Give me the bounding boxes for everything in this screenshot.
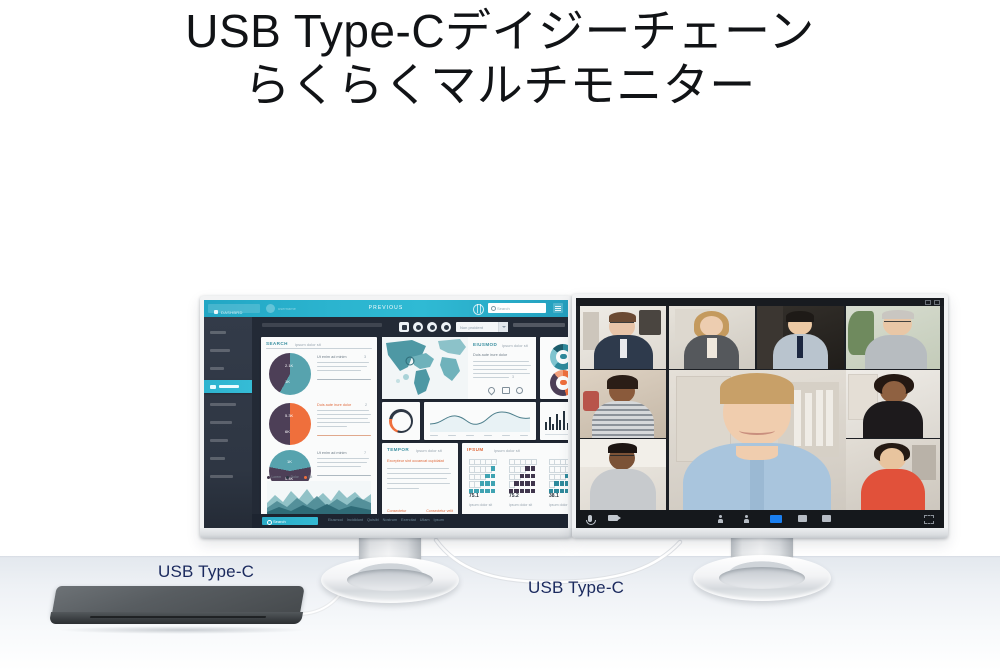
sidebar-item-ipsum[interactable] <box>210 347 246 354</box>
laptop-shadow <box>58 626 306 634</box>
area-chart <box>267 481 371 514</box>
participant-tile-main-speaker[interactable] <box>669 370 846 510</box>
search-input[interactable]: Search <box>488 303 546 313</box>
poster-stage: USB Type-Cデイジーチェーン らくらくマルチモニター <box>0 0 1000 671</box>
stat-1-sub: ipsum dolor sit <box>469 503 492 507</box>
card-search-title: SEARCH <box>266 341 288 346</box>
bar-chart <box>545 408 568 430</box>
filter-select-value: Non proident <box>460 325 483 330</box>
card-tempor-link-left[interactable]: Consectetur <box>387 509 406 513</box>
fullscreen-icon[interactable] <box>924 515 934 524</box>
chevron-down-icon <box>498 322 508 332</box>
participant-tile-1[interactable] <box>580 306 666 369</box>
card-map-lead: Duis aute irure dolor <box>473 353 507 357</box>
stat-1-value: 75.1 <box>469 493 479 499</box>
pin-icon[interactable] <box>487 386 497 396</box>
bar-chart-axis <box>545 434 568 435</box>
search-placeholder: Search <box>497 306 510 311</box>
video-toolbar <box>576 510 944 528</box>
hamburger-menu-icon[interactable] <box>553 303 563 313</box>
waffle-chart-3 <box>549 459 568 493</box>
clock-icon[interactable] <box>516 387 523 394</box>
pie-2-label-a: 5.3K <box>285 413 293 418</box>
camera-icon[interactable] <box>608 515 618 521</box>
laptop-closed[interactable] <box>48 586 308 632</box>
monitor-left-screen: DASHBRD username PREVIOUS Search <box>204 300 568 528</box>
filter-select[interactable]: Non proident <box>456 322 508 332</box>
search-item-3-heading: Ut enim ad minim <box>317 451 347 455</box>
info-icon[interactable] <box>413 322 423 332</box>
card-map: EIUSMOD ipsum dolor sit Duis aute irure … <box>382 337 536 399</box>
donut-chart-orange <box>550 370 568 396</box>
search-item-1-count: 3 <box>364 355 366 359</box>
card-ipsum-title: IPSUM <box>467 447 484 452</box>
card-bar-chart <box>540 402 568 440</box>
footer-link-2[interactable]: Quisibi <box>367 518 379 522</box>
folder-icon <box>210 385 216 389</box>
footer-links: Eiusmod Incididunt Quisibi Nostrum Exerc… <box>328 518 444 522</box>
monitor-right[interactable] <box>572 294 948 538</box>
sidebar-item-incididunt[interactable] <box>210 473 246 480</box>
headline-line-2: らくらくマルチモニター <box>0 58 1000 112</box>
search-icon <box>267 520 272 525</box>
sidebar-item-tempor[interactable] <box>210 455 246 462</box>
stand-base-ring <box>693 555 831 601</box>
map-info-panel: EIUSMOD ipsum dolor sit Duis aute irure … <box>468 337 536 399</box>
card-ipsum: IPSUM ipsum dolor sit 75.1 ipsum dolor s… <box>462 443 568 519</box>
settings-icon[interactable] <box>441 322 451 332</box>
sidebar-item-sit-amet[interactable] <box>204 380 252 393</box>
share-screen-icon[interactable] <box>770 515 782 523</box>
card-tempor-title: TEMPOR <box>387 447 409 452</box>
search-item-2-heading: Duis aute irure dolor <box>317 403 351 407</box>
globe-icon[interactable] <box>473 304 484 315</box>
monitor-right-screen <box>576 298 944 528</box>
laptop-base <box>49 612 303 624</box>
pie-1-label-a: 2.1K <box>285 363 293 368</box>
card-map-subtitle: ipsum dolor sit <box>502 343 528 348</box>
stat-3-sub: ipsum dolor sit <box>549 503 568 507</box>
card-map-count: 3 <box>512 375 514 379</box>
chat-icon[interactable] <box>798 515 807 522</box>
search-item-3-count: 7 <box>364 451 366 455</box>
card-ring-chart <box>382 402 420 440</box>
video-window-titlebar <box>576 298 944 306</box>
footer-link-0[interactable]: Eiusmod <box>328 518 343 522</box>
ring-chart <box>389 409 413 433</box>
search-button-label: Search <box>273 519 286 524</box>
card-search: SEARCH ipsum dolor sit 2.1K 1K Ut enim a… <box>261 337 377 519</box>
sidebar-item-eiusmod[interactable] <box>210 437 246 444</box>
calendar-icon[interactable] <box>502 387 510 394</box>
people-icon[interactable] <box>744 515 749 523</box>
card-tempor-subtitle: ipsum dolor sit <box>416 448 442 453</box>
header-note <box>513 323 565 327</box>
card-tempor-lead: Excepteur sint occaecat cupidatat <box>387 459 444 463</box>
sidebar-item-consectetur[interactable] <box>210 401 246 408</box>
sidebar-item-adipiscing[interactable] <box>210 419 246 426</box>
mic-icon[interactable] <box>588 515 592 522</box>
participant-grid <box>580 306 940 510</box>
footer-link-5[interactable]: Ullam <box>420 518 430 522</box>
participant-tile-2[interactable] <box>669 306 755 369</box>
search-icon <box>491 306 496 311</box>
donut-chart-teal <box>550 344 568 370</box>
card-line-chart <box>424 402 536 440</box>
dashboard-app: DASHBRD username PREVIOUS Search <box>204 300 568 528</box>
pie-chart-1 <box>269 353 311 395</box>
calendar-icon[interactable] <box>399 322 409 332</box>
laptop-seam <box>90 616 266 618</box>
pie-3-label-a: 1K <box>287 459 292 464</box>
card-search-subtitle: ipsum dolor sit <box>295 342 321 347</box>
card-map-title: EIUSMOD <box>473 342 497 347</box>
layout-icon[interactable] <box>822 515 831 522</box>
participant-tile-9[interactable] <box>846 439 940 510</box>
participant-tile-8[interactable] <box>580 439 666 510</box>
sidebar-item-dolor[interactable] <box>210 365 246 372</box>
monitor-left[interactable]: DASHBRD username PREVIOUS Search <box>200 296 572 538</box>
participant-tile-3[interactable] <box>757 306 843 369</box>
stat-3-value: 38.1 <box>549 493 559 499</box>
legend-1: Dolor <box>291 475 299 479</box>
window-controls[interactable] <box>925 300 940 305</box>
stat-2-sub: ipsum dolor sit <box>509 503 532 507</box>
breadcrumb <box>262 323 382 327</box>
card-tempor: TEMPOR ipsum dolor sit Excepteur sint oc… <box>382 443 458 519</box>
pie-legend: Lorem Dolor Sit <box>267 475 312 479</box>
footer-link-4[interactable]: Exercitat <box>401 518 416 522</box>
legend-0: Lorem <box>272 475 282 479</box>
desk-edge <box>0 556 1000 558</box>
legend-2: Sit <box>308 475 312 479</box>
usb-label-left: USB Type-C <box>158 562 254 582</box>
pie-chart-2 <box>269 403 311 445</box>
footer-link-3[interactable]: Nostrum <box>383 518 397 522</box>
dashboard-sidebar <box>204 317 252 528</box>
headline-line-1: USB Type-Cデイジーチェーン <box>0 4 1000 58</box>
participant-tile-7[interactable] <box>846 370 940 437</box>
card-donuts <box>540 337 568 399</box>
search-item-2-count: 2 <box>365 403 367 407</box>
usb-label-right: USB Type-C <box>528 578 624 598</box>
mail-icon[interactable] <box>427 322 437 332</box>
pie-1-label-b: 1K <box>285 379 290 384</box>
sidebar-item-lorem[interactable] <box>210 329 246 336</box>
dashboard-topbar: DASHBRD username PREVIOUS Search <box>204 300 568 317</box>
waffle-chart-1 <box>469 459 495 493</box>
card-tempor-link-right[interactable]: Consectetur velit <box>426 509 453 513</box>
monitor-stand-left <box>310 527 470 607</box>
participant-tile-5[interactable] <box>580 370 666 437</box>
participants-icon[interactable] <box>718 515 723 523</box>
card-ipsum-subtitle: ipsum dolor sit <box>494 448 520 453</box>
page-title: USB Type-Cデイジーチェーン らくらくマルチモニター <box>0 0 1000 112</box>
stat-2-value: 75.2 <box>509 493 519 499</box>
participant-tile-4[interactable] <box>846 306 940 369</box>
stand-base-ring <box>321 557 459 603</box>
dashboard-footer: Search Eiusmod Incididunt Quisibi Nostru… <box>252 514 568 528</box>
video-conference-app <box>576 298 944 528</box>
dashboard-main: Non proident SEARCH ipsum dolor sit 2.1K… <box>252 317 568 528</box>
waffle-chart-2 <box>509 459 535 493</box>
search-button[interactable]: Search <box>262 517 318 525</box>
pie-2-label-b: 6K <box>285 429 290 434</box>
footer-link-6[interactable]: Ipsum <box>434 518 444 522</box>
search-item-1-heading: Ut enim ad minim <box>317 355 347 359</box>
footer-link-1[interactable]: Incididunt <box>347 518 363 522</box>
world-map <box>382 337 468 399</box>
